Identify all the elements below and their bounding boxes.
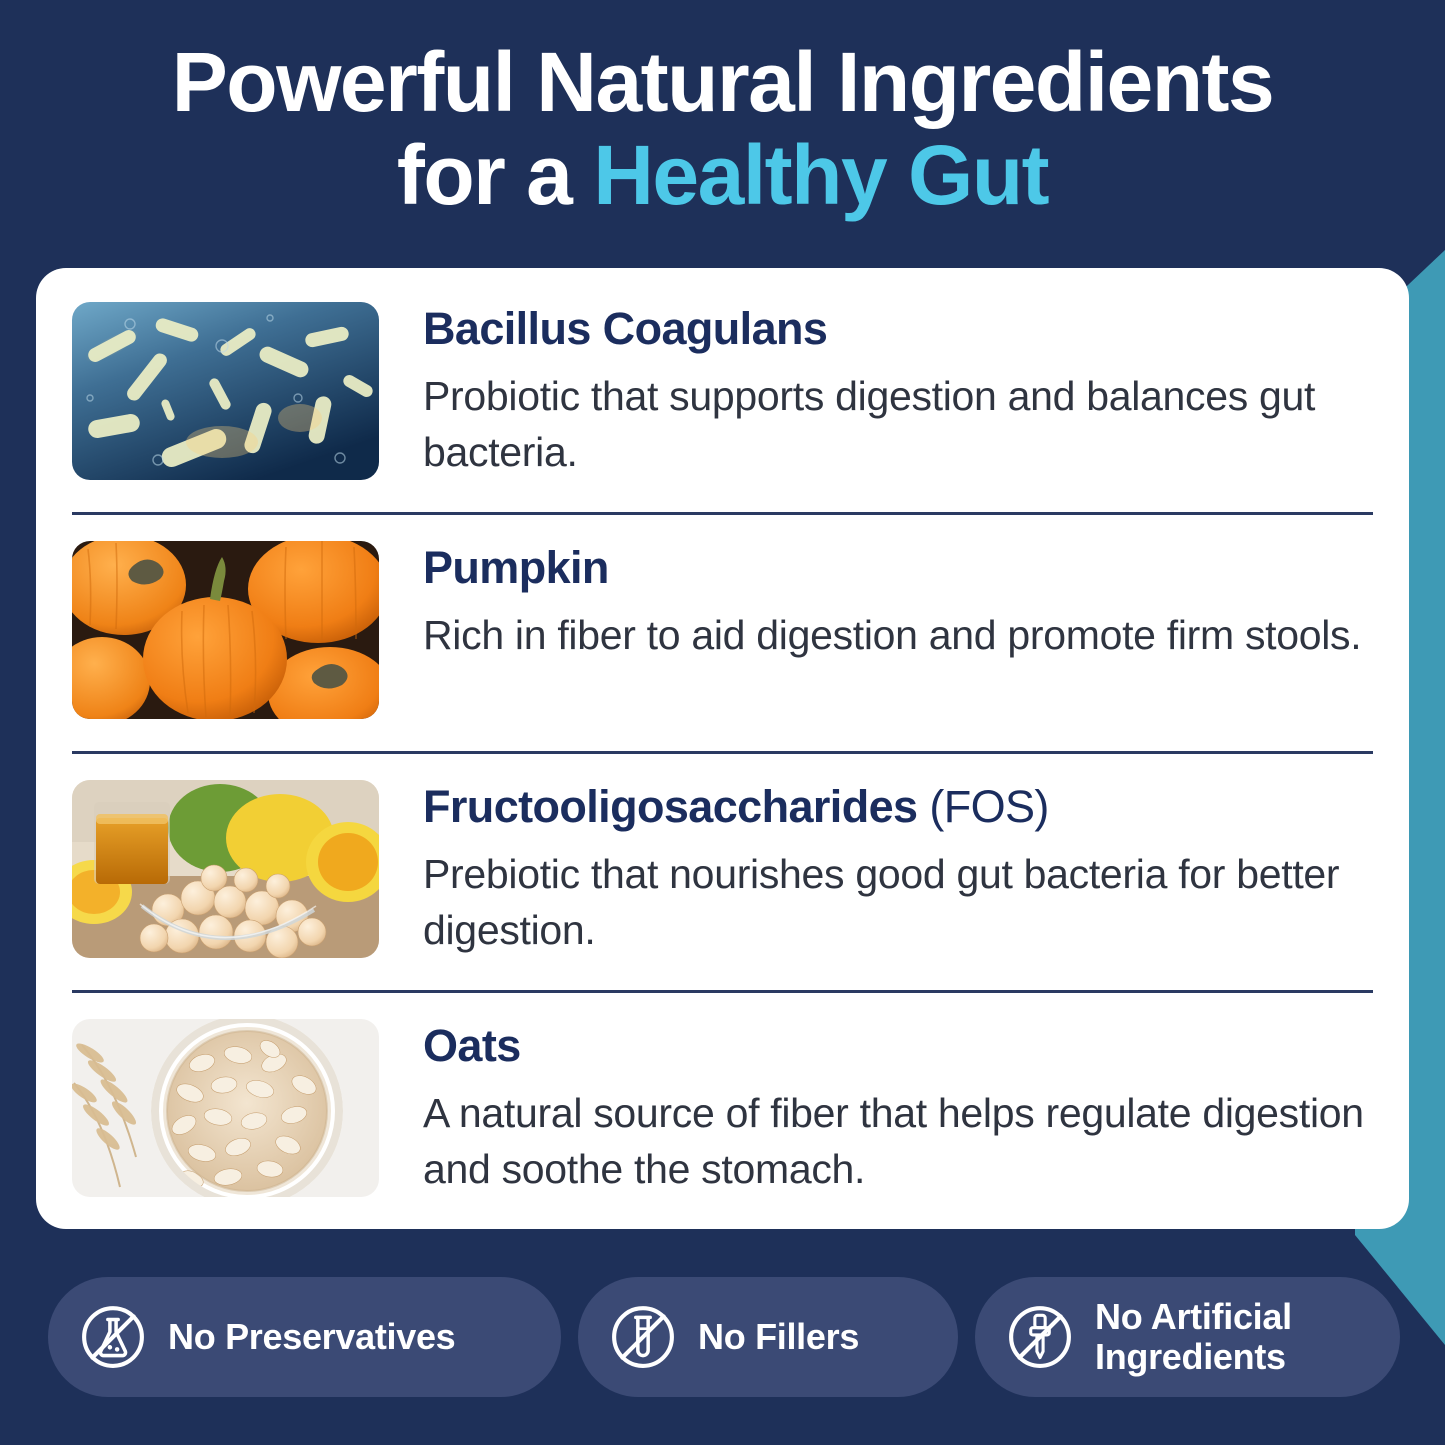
oats-thumbnail — [72, 1019, 379, 1197]
title-line-1: Powerful Natural Ingredients — [0, 38, 1445, 127]
ingredient-name-main: Fructooligosaccharides — [423, 781, 917, 832]
ingredient-name: Pumpkin — [423, 543, 1373, 593]
bacillus-coagulans-thumbnail — [72, 302, 379, 480]
list-item: Bacillus Coagulans Probiotic that suppor… — [72, 276, 1373, 512]
title-line-2: for a Healthy Gut — [0, 131, 1445, 220]
status-badge: No Preservatives — [48, 1277, 561, 1397]
no-dropper-icon — [1007, 1304, 1073, 1370]
no-test-tube-icon — [610, 1304, 676, 1370]
ingredient-description: Prebiotic that nourishes good gut bacter… — [423, 846, 1373, 959]
title-accent: Healthy Gut — [593, 128, 1048, 222]
ingredient-text: Oats A natural source of fiber that help… — [423, 1017, 1373, 1198]
pumpkin-thumbnail — [72, 541, 379, 719]
ingredient-name-main: Oats — [423, 1020, 521, 1071]
badge-label: No Preservatives — [168, 1317, 455, 1357]
ingredient-name: Bacillus Coagulans — [423, 304, 1373, 354]
claims-badge-row: No Preservatives No Fillers — [48, 1277, 1400, 1397]
ingredient-name: Oats — [423, 1021, 1373, 1071]
ingredients-card: Bacillus Coagulans Probiotic that suppor… — [36, 268, 1409, 1229]
list-item: Fructooligosaccharides (FOS) Prebiotic t… — [72, 751, 1373, 990]
status-badge: No Artificial Ingredients — [975, 1277, 1400, 1397]
ingredients-poster: Powerful Natural Ingredients for a Healt… — [0, 0, 1445, 1445]
ingredient-description: Rich in fiber to aid digestion and promo… — [423, 607, 1373, 664]
title-prefix: for a — [397, 128, 593, 222]
fructooligosaccharides-thumbnail — [72, 780, 379, 958]
ingredient-text: Bacillus Coagulans Probiotic that suppor… — [423, 300, 1373, 481]
ingredient-description: A natural source of fiber that helps reg… — [423, 1085, 1373, 1198]
ingredient-name-main: Bacillus Coagulans — [423, 303, 827, 354]
badge-label: No Fillers — [698, 1317, 859, 1357]
ingredients-list: Bacillus Coagulans Probiotic that suppor… — [72, 268, 1373, 1229]
no-flask-icon — [80, 1304, 146, 1370]
ingredient-text: Fructooligosaccharides (FOS) Prebiotic t… — [423, 778, 1373, 959]
page-title: Powerful Natural Ingredients for a Healt… — [0, 38, 1445, 220]
list-item: Oats A natural source of fiber that help… — [72, 990, 1373, 1229]
ingredient-text: Pumpkin Rich in fiber to aid digestion a… — [423, 539, 1373, 663]
ingredient-name-main: Pumpkin — [423, 542, 609, 593]
badge-label: No Artificial Ingredients — [1095, 1297, 1374, 1378]
ingredient-name: Fructooligosaccharides (FOS) — [423, 782, 1373, 832]
list-item: Pumpkin Rich in fiber to aid digestion a… — [72, 512, 1373, 751]
ingredient-name-suffix: (FOS) — [917, 781, 1048, 832]
status-badge: No Fillers — [578, 1277, 958, 1397]
ingredient-description: Probiotic that supports digestion and ba… — [423, 368, 1373, 481]
